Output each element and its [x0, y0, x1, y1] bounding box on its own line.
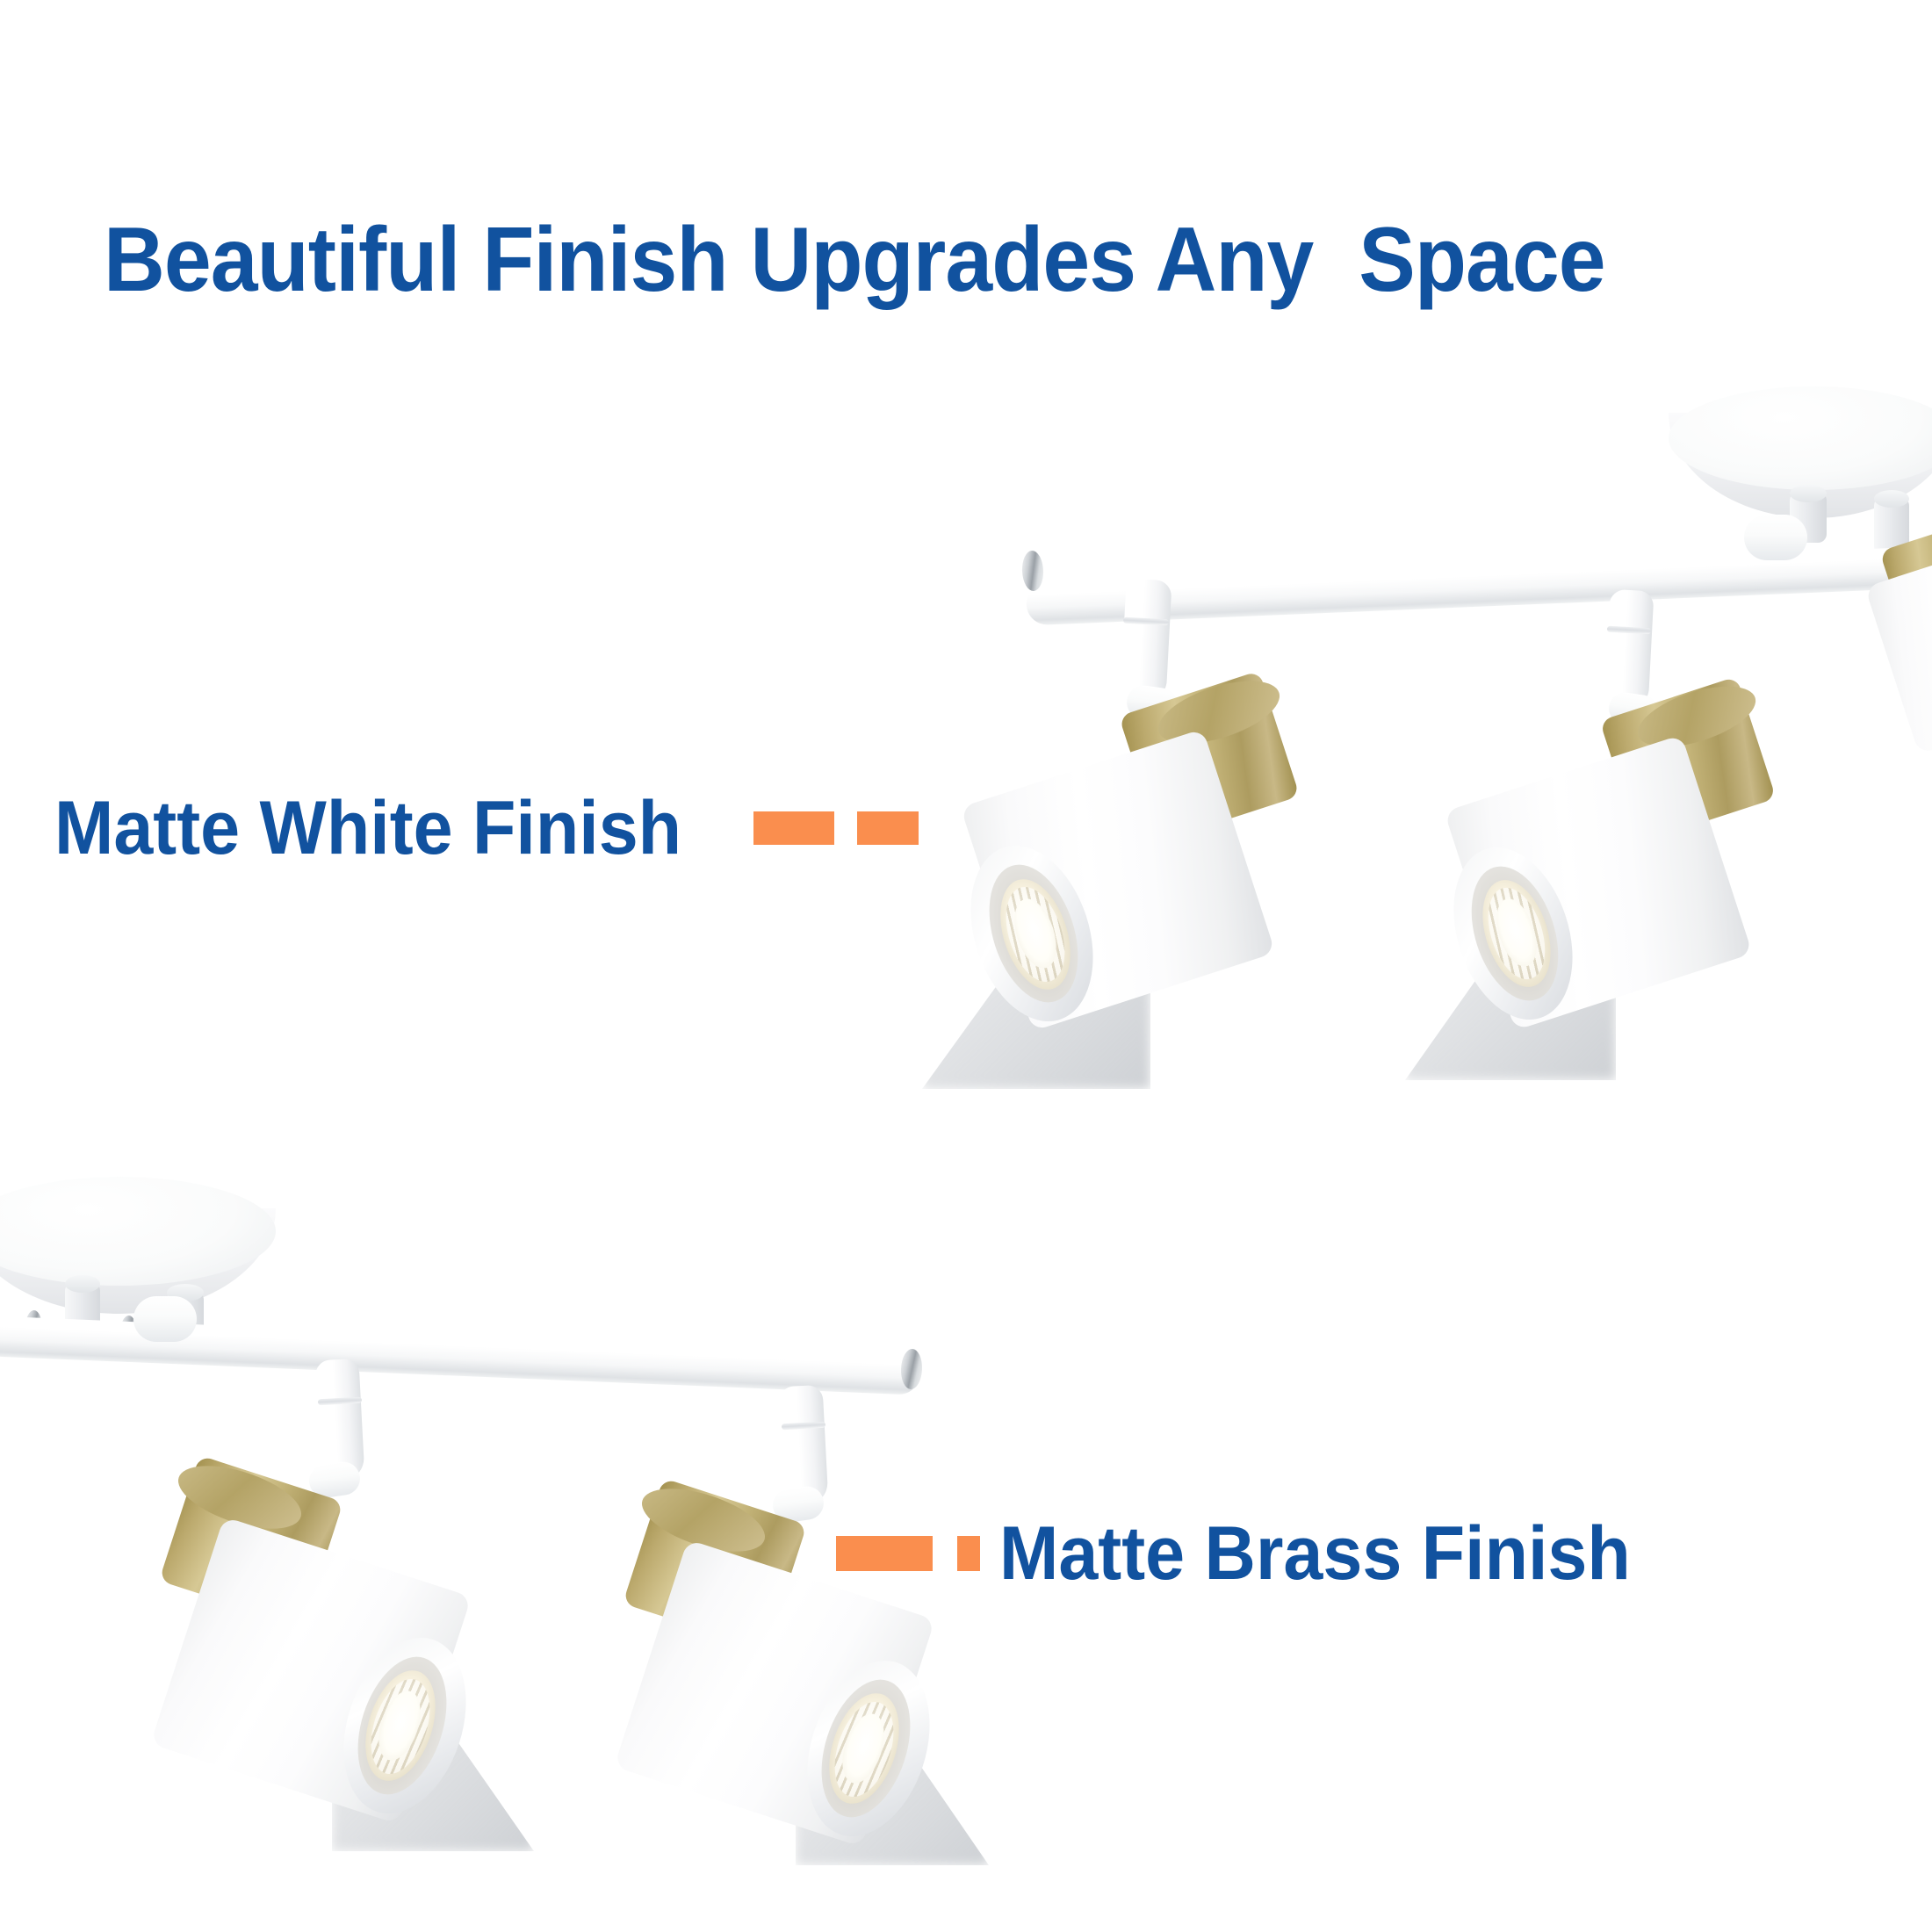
callout-white-dash-short — [857, 811, 919, 845]
upper-canopy-joint — [1744, 515, 1807, 560]
callout-brass-dash-short — [957, 1536, 980, 1571]
lower-canopy-joint — [133, 1296, 197, 1342]
callout-matte-white-label: Matte White Finish — [54, 790, 681, 866]
callout-brass-dash-long — [836, 1536, 933, 1571]
lower-track-bar-end-cap — [900, 1349, 923, 1390]
upper-canopy-post-cap-1 — [1790, 485, 1827, 502]
page-title: Beautiful Finish Upgrades Any Space — [104, 214, 1605, 306]
lower-canopy-post-cap-1 — [65, 1275, 100, 1293]
upper-canopy-post-cap-2 — [1874, 490, 1909, 508]
callout-matte-brass: Matte Brass Finish — [836, 1516, 1671, 1591]
callout-matte-brass-label: Matte Brass Finish — [999, 1516, 1631, 1591]
callout-white-dash-long — [753, 811, 834, 845]
product-feature-image: Beautiful Finish Upgrades Any Space — [0, 0, 1932, 1932]
callout-matte-white: Matte White Finish — [54, 790, 919, 866]
